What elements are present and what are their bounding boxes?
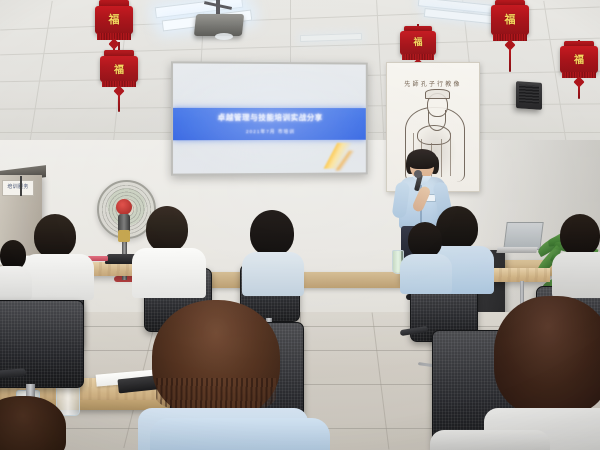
- lantern-left-lower: 福: [98, 42, 140, 112]
- projection-screen: 卓越管理与技能培训实战分享 2021年7月 市培训: [171, 61, 368, 175]
- podium-mic-stand: [20, 176, 22, 196]
- attendee-head: [436, 206, 478, 250]
- lantern-center-right: 福: [488, 0, 532, 72]
- attendee-torso: [22, 254, 94, 300]
- speaker-grill: [519, 84, 539, 103]
- sage-hat: [425, 89, 450, 99]
- orange-swoosh-graphic-inner: [319, 151, 362, 171]
- wall-speaker: [516, 81, 542, 110]
- attendee-front-collar: [150, 418, 330, 450]
- attendee-torso: [400, 254, 452, 294]
- microphone-head-icon: [414, 170, 422, 178]
- sage-beard: [428, 110, 446, 131]
- attendee-head: [250, 210, 294, 256]
- attendee-front-right-shirt: [430, 430, 550, 450]
- attendee-torso: [242, 252, 304, 296]
- slide-subtitle-text: 2021年7月 市培训: [173, 129, 366, 135]
- projector-lens-icon: [215, 33, 233, 40]
- photo-scene: 福 福 福 福 福: [0, 0, 600, 450]
- attendee-head: [408, 222, 442, 258]
- presenter-hair: [407, 149, 437, 169]
- attendee-torso: [0, 266, 32, 300]
- fan-hub-icon: [116, 199, 132, 215]
- podium-sign-text: 培训服务: [3, 183, 33, 190]
- lantern-right-edge: 福: [558, 40, 600, 100]
- attendee-head: [146, 206, 188, 252]
- attendee-head: [494, 296, 600, 416]
- fan-control-knob[interactable]: [118, 230, 130, 242]
- podium-sign: 培训服务: [2, 180, 34, 196]
- attendee-torso: [132, 248, 206, 298]
- attendee-head: [34, 214, 76, 258]
- slide-title-text: 卓越管理与技能培训实战分享: [173, 112, 366, 123]
- attendee-head: [560, 214, 600, 256]
- presentation-slide: 卓越管理与技能培训实战分享 2021年7月 市培训: [173, 63, 366, 173]
- poster-caption-text: 先師孔子行教像: [387, 79, 479, 88]
- attendee-torso: [552, 252, 600, 298]
